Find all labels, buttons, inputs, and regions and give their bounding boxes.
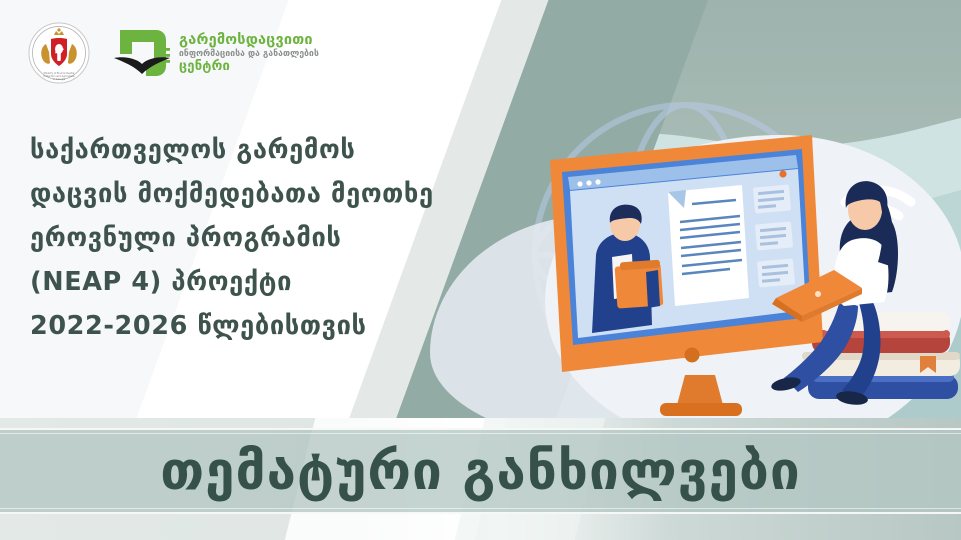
headline-line-4: (NEAP 4) პროექტი [30, 260, 434, 304]
presentation-slide: Ministry of Environmental Protection and… [0, 0, 961, 540]
ministry-seal-logo: Ministry of Environmental Protection and… [28, 22, 90, 84]
eiec-logo-line1: გარემოსდაცვითი [179, 33, 319, 48]
eiec-logo: გარემოსდაცვითი ინფორმაციისა და განათლები… [112, 24, 319, 82]
svg-text:of Georgia: of Georgia [53, 78, 66, 81]
desktop-monitor [550, 135, 823, 416]
headline-line-3: ეროვნული პროგრამის [30, 216, 434, 260]
eiec-logo-text: გარემოსდაცვითი ინფორმაციისა და განათლები… [179, 33, 319, 74]
eiec-logo-line3: ცენტრი [179, 60, 319, 73]
sidebar-cards [753, 170, 795, 287]
headline-line-2: დაცვის მოქმედებათა მეოთხე [30, 172, 434, 216]
header-logos: Ministry of Environmental Protection and… [28, 22, 319, 84]
headline-line-1: საქართველოს გარემოს [30, 128, 434, 172]
document-page [668, 185, 749, 306]
banner-line-top [0, 433, 961, 434]
online-meeting-illustration [540, 120, 961, 420]
banner-band: თემატური განხილვები [0, 428, 961, 514]
banner-line-bottom [0, 508, 961, 509]
headline-line-5: 2022-2026 წლებისთვის [30, 304, 434, 348]
slide-headline: საქართველოს გარემოს დაცვის მოქმედებათა მ… [30, 128, 434, 348]
banner-title: თემატური განხილვები [160, 445, 801, 498]
eiec-logo-mark [112, 24, 172, 82]
eiec-logo-line2: ინფორმაციისა და განათლების [179, 50, 319, 59]
